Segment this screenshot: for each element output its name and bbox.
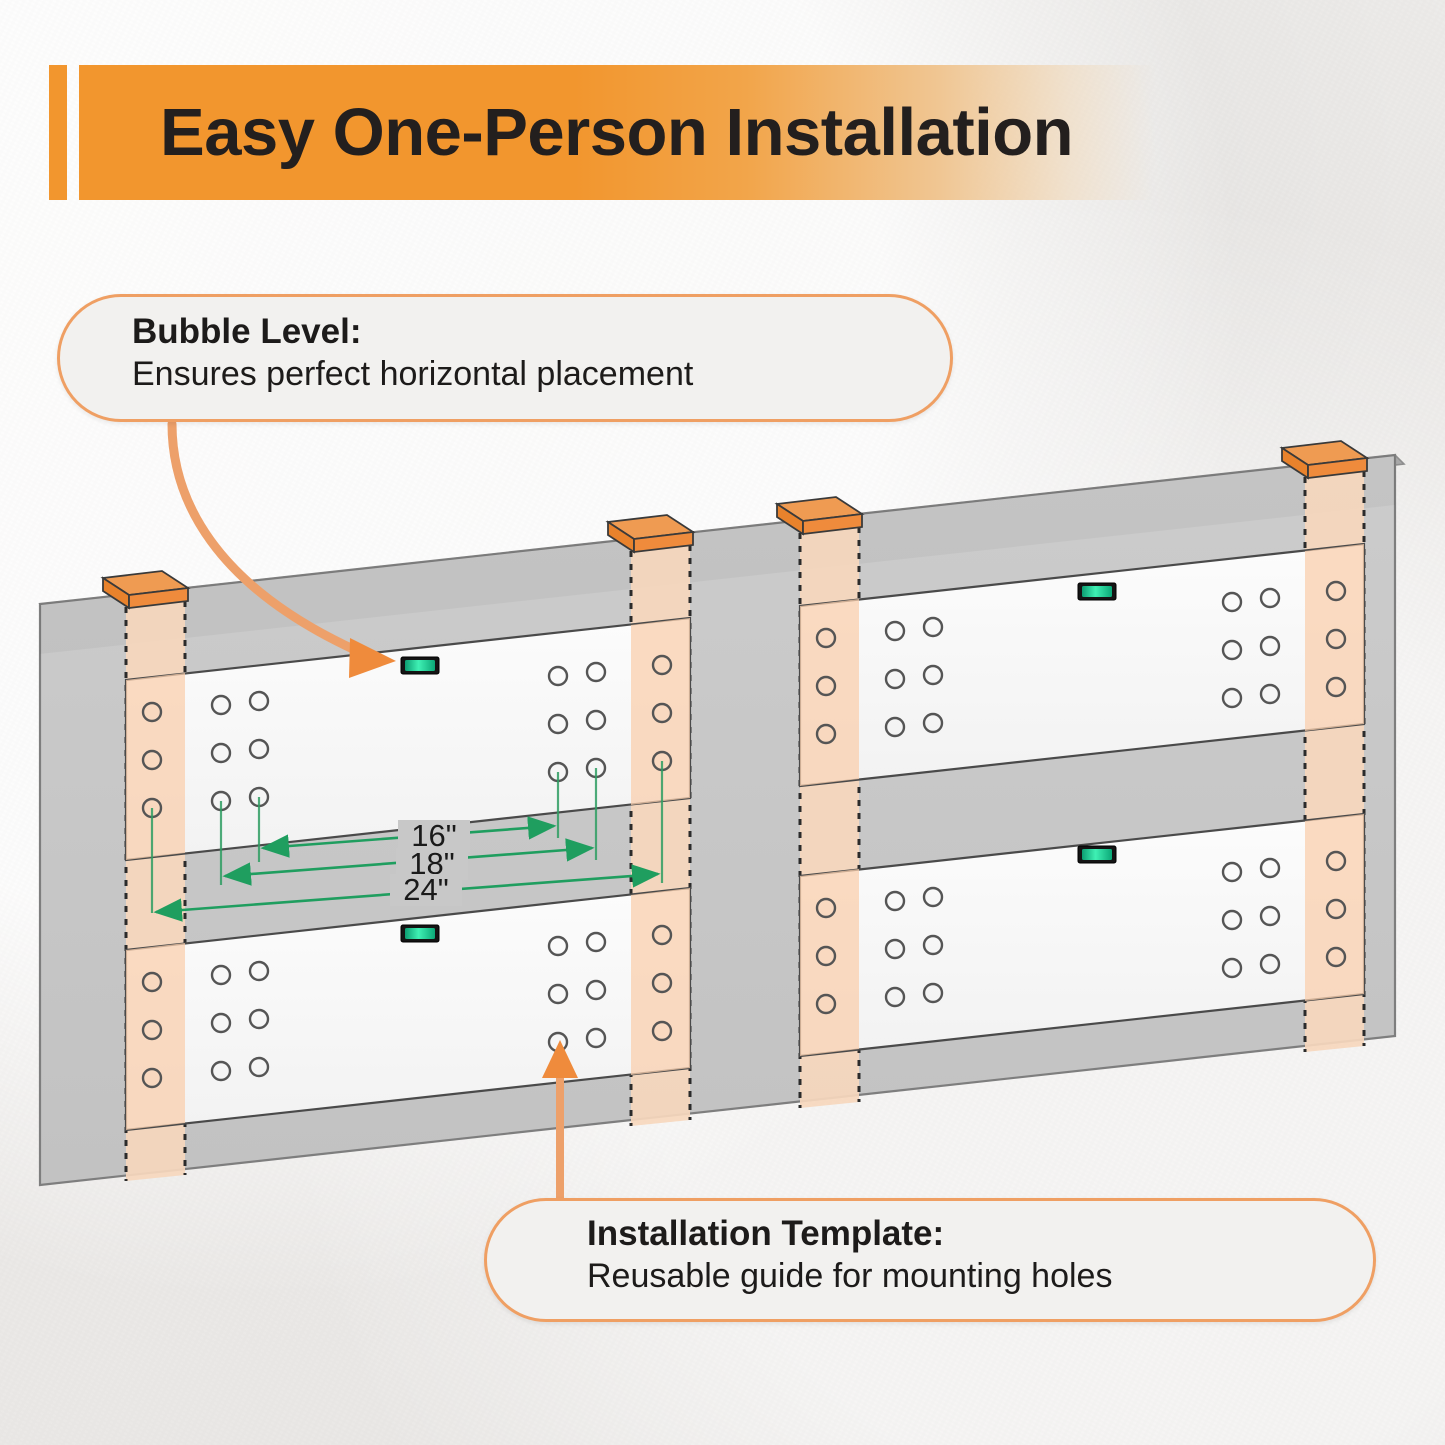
bubble-level-1	[401, 657, 439, 674]
bubble-level-3	[1078, 583, 1116, 600]
callout-installation-template: Installation Template: Reusable guide fo…	[484, 1198, 1376, 1322]
callout-installation-template-description: Reusable guide for mounting holes	[587, 1256, 1373, 1297]
bubble-level-2	[401, 925, 439, 942]
page-title: Easy One-Person Installation	[160, 65, 1160, 200]
callout-bubble-level: Bubble Level: Ensures perfect horizontal…	[57, 294, 953, 422]
callout-bubble-level-title: Bubble Level:	[132, 311, 950, 352]
callout-installation-template-title: Installation Template:	[587, 1213, 1373, 1254]
header-banner-group: Easy One-Person Installation	[0, 0, 1445, 230]
header-accent-bar	[49, 65, 67, 200]
callout-bubble-level-description: Ensures perfect horizontal placement	[132, 354, 950, 395]
bubble-level-4	[1078, 846, 1116, 863]
dimension-label-24-fg: 24"	[403, 872, 449, 907]
